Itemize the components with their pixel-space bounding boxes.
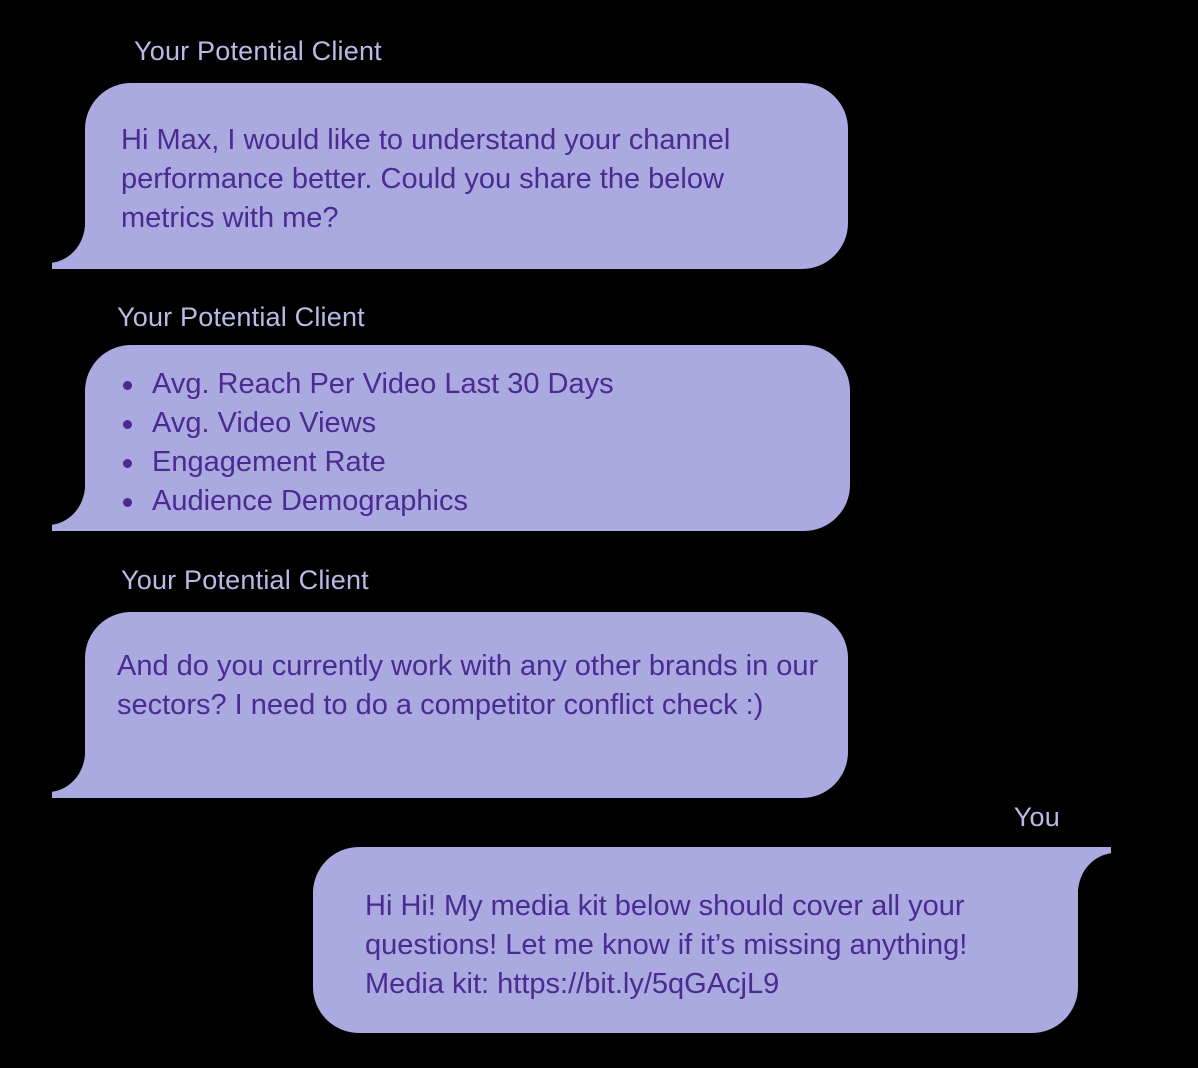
list-item-label: Avg. Video Views — [152, 407, 376, 439]
sender-label-you: You — [860, 802, 1060, 833]
list-item-label: Engagement Rate — [152, 446, 386, 478]
bubble-tail-icon — [1078, 847, 1111, 889]
message-text: Hi Max, I would like to understand your … — [121, 121, 821, 238]
bubble-tail-icon — [52, 489, 85, 531]
list-item-label: Avg. Reach Per Video Last 30 Days — [152, 368, 614, 400]
bullet-dot-icon — [123, 420, 132, 429]
list-item: Avg. Video Views — [119, 404, 819, 443]
list-item: Engagement Rate — [119, 443, 819, 482]
metrics-bullet-list: Avg. Reach Per Video Last 30 Days Avg. V… — [119, 365, 819, 521]
message-bubble-outgoing-1[interactable]: Hi Hi! My media kit below should cover a… — [313, 847, 1078, 1033]
sender-label-client-1: Your Potential Client — [134, 36, 382, 67]
message-bubble-incoming-1[interactable]: Hi Max, I would like to understand your … — [85, 83, 848, 269]
message-bubble-incoming-2[interactable]: Avg. Reach Per Video Last 30 Days Avg. V… — [85, 345, 850, 531]
bullet-dot-icon — [123, 498, 132, 507]
sender-label-client-2: Your Potential Client — [117, 302, 365, 333]
sender-label-client-3: Your Potential Client — [121, 565, 369, 596]
bullet-dot-icon — [123, 459, 132, 468]
message-bubble-incoming-3[interactable]: And do you currently work with any other… — [85, 612, 848, 798]
message-text: And do you currently work with any other… — [117, 647, 837, 725]
list-item: Avg. Reach Per Video Last 30 Days — [119, 365, 819, 404]
bullet-dot-icon — [123, 381, 132, 390]
message-text: Hi Hi! My media kit below should cover a… — [365, 887, 1055, 1004]
bubble-tail-icon — [52, 227, 85, 269]
bubble-tail-icon — [52, 756, 85, 798]
list-item: Audience Demographics — [119, 482, 819, 521]
chat-thread: Your Potential Client Hi Max, I would li… — [0, 0, 1198, 1068]
list-item-label: Audience Demographics — [152, 485, 468, 517]
